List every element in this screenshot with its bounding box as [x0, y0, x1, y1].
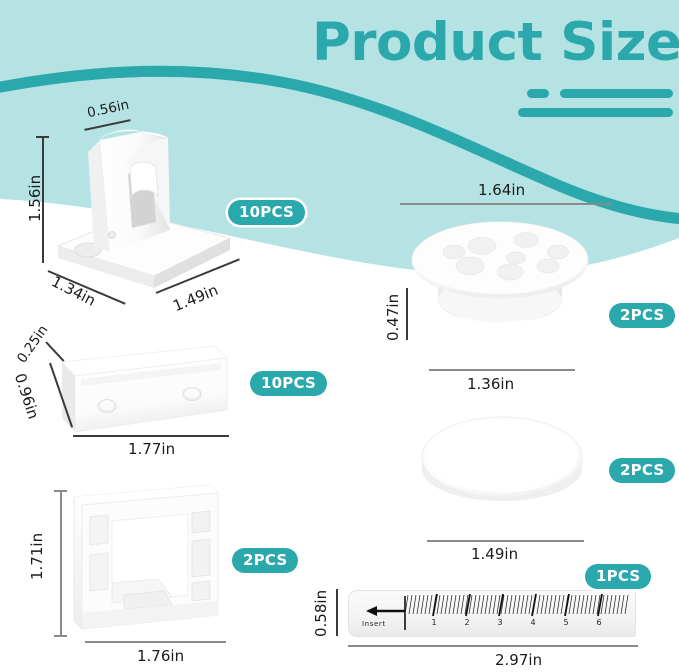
dim-plate-width: 1.77in [128, 440, 175, 458]
dim-latch-height-rule [42, 136, 44, 263]
dim-ruler-height: 0.58in [312, 590, 330, 637]
square-frame-illustration [68, 483, 228, 635]
dim-frame-height-cap-bottom [54, 635, 67, 637]
dim-disc-diameter-rule [427, 540, 584, 542]
decorative-dash [527, 89, 549, 98]
dim-knob-base-diameter: 1.36in [467, 375, 514, 393]
ruler-tick-3: 3 [497, 618, 502, 627]
product-knob-cap [410, 210, 590, 335]
dim-ruler-height-rule [336, 589, 338, 636]
badge-qty-round-disc: 2PCS [609, 458, 675, 483]
ruler-insert-label: Insert [362, 620, 386, 628]
knob-cap-illustration [410, 210, 590, 335]
badge-qty-flat-plate: 10PCS [250, 371, 327, 396]
dim-frame-height: 1.71in [28, 533, 46, 580]
ruler-tick-4: 4 [530, 618, 535, 627]
badge-qty-knob-cap: 2PCS [609, 303, 675, 328]
dim-ruler-length-rule [348, 645, 638, 647]
ruler-tick-6: 6 [596, 618, 601, 627]
dim-ruler-length: 2.97in [495, 651, 542, 669]
badge-qty-ruler: 1PCS [585, 564, 651, 589]
ruler-tick-2: 2 [464, 618, 469, 627]
ruler-tick-5: 5 [563, 618, 568, 627]
dim-plate-depth: 0.96in [11, 371, 43, 421]
decorative-line-1 [560, 89, 673, 98]
dim-disc-diameter: 1.49in [471, 545, 518, 563]
dim-knob-top-rule [400, 203, 611, 205]
page-title: Product Size [312, 12, 679, 73]
dim-knob-height: 0.47in [384, 294, 402, 341]
product-square-frame [68, 483, 228, 635]
ruler-scale-graphic [348, 590, 636, 637]
product-ruler: Insert 1 2 3 4 5 6 [348, 590, 636, 637]
dim-frame-height-rule [60, 490, 62, 636]
product-flat-plate [55, 340, 235, 440]
flat-plate-illustration [55, 340, 235, 440]
dim-frame-height-cap-top [54, 490, 67, 492]
ruler-tick-1: 1 [431, 618, 436, 627]
dim-frame-width-rule [85, 641, 226, 643]
dim-knob-top-diameter: 1.64in [478, 181, 525, 199]
decorative-line-2 [518, 108, 673, 117]
badge-qty-corner-latch: 10PCS [228, 200, 305, 225]
dim-knob-base-rule [429, 369, 575, 371]
dim-frame-width: 1.76in [137, 647, 184, 665]
dim-knob-height-rule [406, 288, 408, 340]
round-disc-illustration [420, 415, 585, 505]
dim-plate-width-rule [73, 435, 229, 437]
product-round-disc [420, 415, 585, 505]
badge-qty-square-frame: 2PCS [232, 548, 298, 573]
dim-latch-height-cap-top [36, 136, 49, 138]
